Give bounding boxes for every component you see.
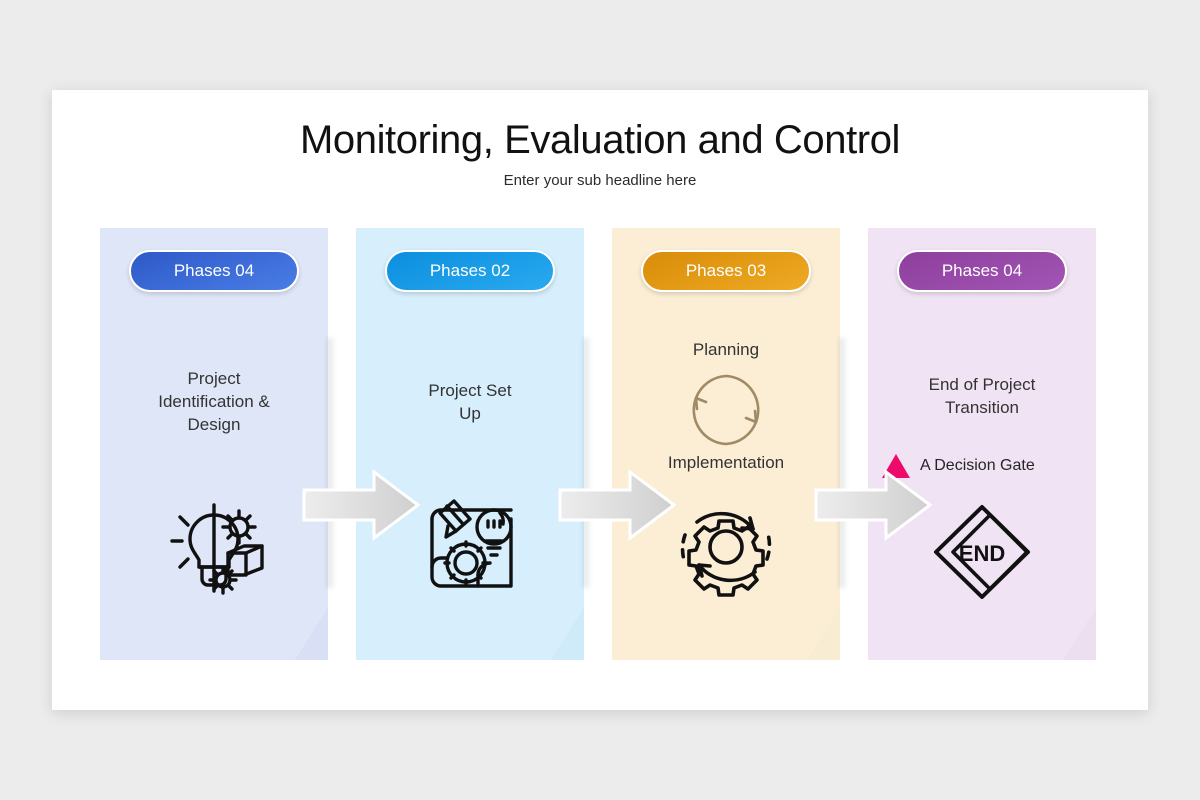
page-title: Monitoring, Evaluation and Control — [52, 118, 1148, 163]
phase-badge-4-label: Phases 04 — [942, 261, 1022, 280]
lightbulb-gears-box-icon — [162, 497, 266, 602]
phase-card-1[interactable]: Phases 04 Project Identification & Desig… — [100, 228, 328, 660]
decision-gate-label: A Decision Gate — [920, 457, 1035, 475]
blueprint-pencil-bulb-gear-icon — [418, 497, 522, 602]
phase-card-2[interactable]: Phases 02 Project Set Up — [356, 228, 584, 660]
phase-badge-1[interactable]: Phases 04 — [129, 250, 299, 292]
page-subtitle: Enter your sub headline here — [52, 172, 1148, 189]
svg-text:END: END — [959, 541, 1005, 566]
slide-canvas: Monitoring, Evaluation and Control Enter… — [52, 90, 1148, 710]
gear-rotation-arrows-icon — [675, 497, 777, 602]
phase-card-4[interactable]: Phases 04 End of Project Transition A De… — [868, 228, 1096, 660]
circular-cycle-arrows-icon — [684, 368, 768, 457]
phase-badge-3[interactable]: Phases 03 — [641, 250, 811, 292]
phase-card-3-text-upper: Planning — [620, 340, 832, 360]
phase-card-2-text: Project Set Up — [364, 380, 576, 426]
phase-badge-2-label: Phases 02 — [430, 261, 510, 280]
phase-card-3[interactable]: Phases 03 Planning Implementation — [612, 228, 840, 660]
phase-card-1-text: Project Identification & Design — [108, 368, 320, 437]
phase-badge-1-label: Phases 04 — [174, 261, 254, 280]
phase-card-2-edge-shadow — [583, 338, 592, 588]
flow-arrow-2 — [558, 468, 676, 542]
phase-badge-3-label: Phases 03 — [686, 261, 766, 280]
phase-badge-4[interactable]: Phases 04 — [897, 250, 1067, 292]
phase-card-3-edge-shadow — [839, 338, 848, 588]
phase-badge-2[interactable]: Phases 02 — [385, 250, 555, 292]
phases-container: Phases 04 Project Identification & Desig… — [100, 228, 1100, 660]
phase-card-1-edge-shadow — [327, 338, 336, 588]
phase-card-4-text: End of Project Transition — [876, 374, 1088, 420]
flow-arrow-1 — [302, 468, 420, 542]
flow-arrow-3 — [814, 468, 932, 542]
end-diamond-sign-icon: END — [930, 501, 1034, 608]
